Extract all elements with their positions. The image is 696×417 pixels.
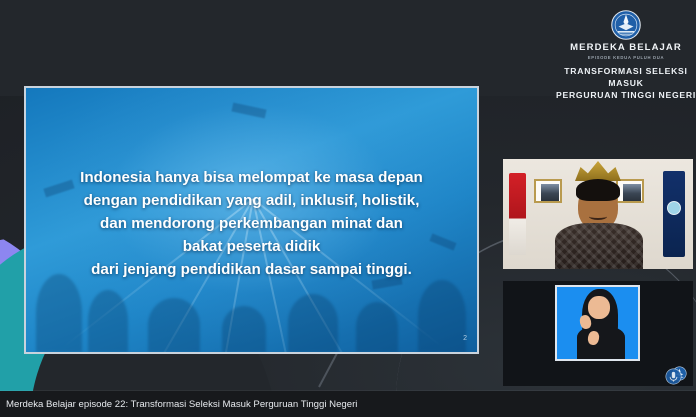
brand-subtitle: TRANSFORMASI SELEKSI MASUK PERGURUAN TIN… [556,65,696,102]
speaker-webcam-panel[interactable] [503,159,693,269]
speaker-smile [589,213,607,220]
slide-quote-line-1: Indonesia hanya bisa melompat ke masa de… [38,166,465,189]
ministry-flag-emblem-icon [667,201,681,215]
brand-header: MERDEKA BELAJAR EPISODE KEDUA PULUH DUA … [556,10,696,102]
slide-quote-line-2: dengan pendidikan yang adil, inklusif, h… [38,189,465,212]
microphone-badge-icon [665,368,682,385]
signer-video-inset [555,285,640,361]
caption-text: Merdeka Belajar episode 22: Transformasi… [0,399,357,410]
presentation-slide[interactable]: Indonesia hanya bisa melompat ke masa de… [24,86,479,354]
slide-quote: Indonesia hanya bisa melompat ke masa de… [26,166,477,281]
brand-subtitle-line-2: PERGURUAN TINGGI NEGERI [556,89,696,101]
slide-graduate-silhouette [36,274,82,352]
slide-quote-line-4: bakat peserta didik [38,235,465,258]
brand-episode: EPISODE KEDUA PULUH DUA [556,55,696,60]
slide-graduate-silhouette [288,294,338,352]
slide-graduate-silhouette [88,290,128,352]
president-portrait-frame [534,179,562,203]
slide-graduate-silhouette [356,302,398,352]
slide-graduate-silhouette [148,298,200,352]
slide-number: 2 [463,335,467,342]
slide-quote-line-5: dari jenjang pendidikan dasar sampai tin… [38,258,465,281]
slide-quote-line-3: dan mendorong perkembangan minat dan [38,212,465,235]
presentation-screen: MERDEKA BELAJAR EPISODE KEDUA PULUH DUA … [0,0,696,417]
caption-bar: Merdeka Belajar episode 22: Transformasi… [0,391,696,417]
speaker-batik-shirt [555,223,643,269]
slide-graduate-silhouette [418,280,466,352]
vice-president-portrait-frame [616,179,644,203]
signer-body [577,327,625,359]
brand-title: MERDEKA BELAJAR [556,43,696,53]
tut-wuri-handayani-logo-icon [611,10,641,40]
slide-graduate-silhouette [222,306,266,352]
indonesia-flag [509,173,526,255]
brand-subtitle-line-1: TRANSFORMASI SELEKSI MASUK [556,65,696,89]
signer-face [588,296,610,319]
speaker-hair [576,179,620,201]
